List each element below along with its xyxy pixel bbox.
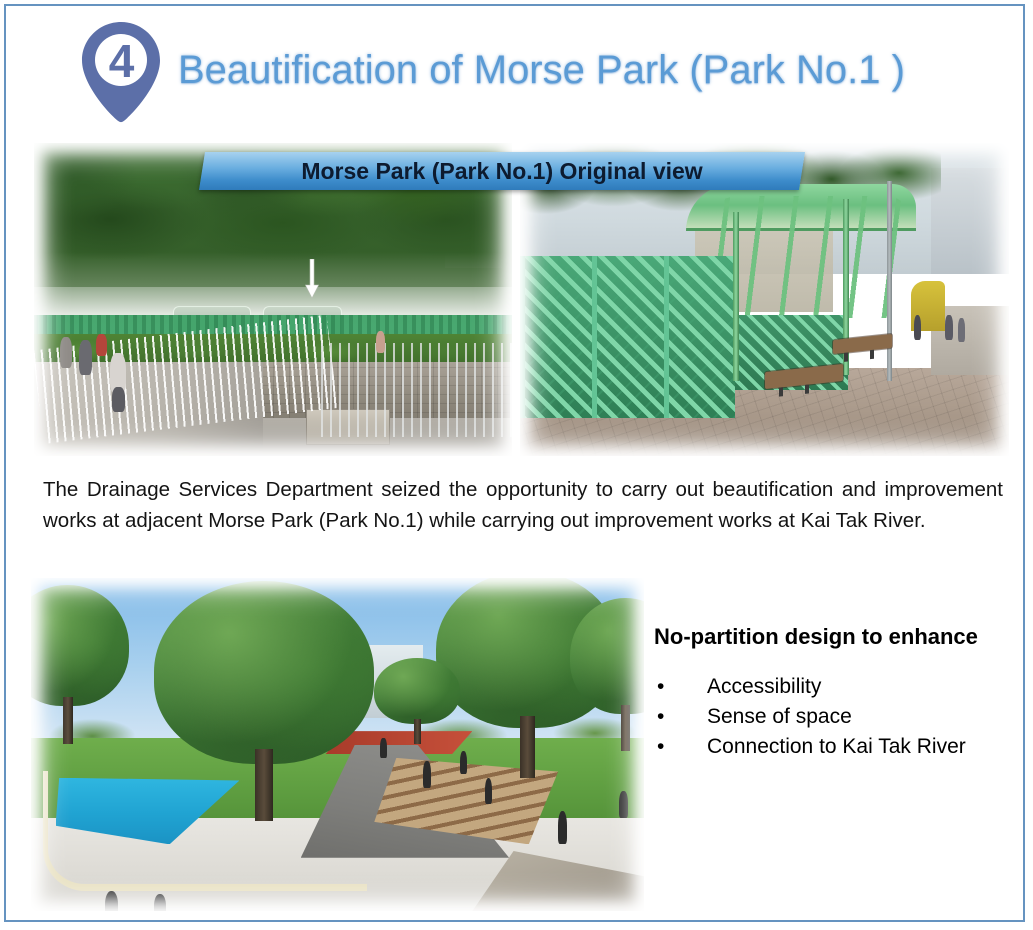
page-title: Beautification of Morse Park (Park No.1 … bbox=[178, 48, 905, 93]
pedestrian bbox=[376, 331, 386, 353]
person-silhouette bbox=[460, 751, 467, 774]
person-silhouette bbox=[380, 738, 386, 758]
photo-caption-banner: Morse Park (Park No.1) Original view bbox=[199, 152, 805, 190]
pedestrian bbox=[112, 387, 124, 412]
green-lattice-fence bbox=[520, 256, 735, 419]
list-item-label: Connection to Kai Tak River bbox=[707, 735, 966, 758]
bullet-icon: • bbox=[657, 732, 664, 762]
tree bbox=[154, 581, 375, 821]
list-item-label: Sense of space bbox=[707, 705, 852, 728]
person-silhouette bbox=[485, 778, 492, 805]
bullet-icon: • bbox=[657, 672, 664, 702]
slide-header: 4 Beautification of Morse Park (Park No.… bbox=[6, 6, 1023, 118]
photo-caption-label: Morse Park (Park No.1) Original view bbox=[202, 152, 802, 190]
person-silhouette bbox=[619, 791, 628, 818]
tree bbox=[570, 598, 644, 751]
down-arrow-annotation bbox=[304, 259, 320, 299]
person-silhouette bbox=[154, 894, 166, 911]
shelter-column bbox=[733, 212, 739, 381]
slide-container: 4 Beautification of Morse Park (Park No.… bbox=[4, 4, 1025, 922]
pedestrian bbox=[958, 318, 965, 341]
benefits-list: • Accessibility • Sense of space • Conne… bbox=[654, 672, 1033, 762]
list-item: • Sense of space bbox=[654, 702, 1033, 732]
badge-number: 4 bbox=[80, 34, 162, 88]
list-item-label: Accessibility bbox=[707, 675, 821, 698]
metal-railing bbox=[321, 343, 512, 437]
render-beautified-park bbox=[31, 578, 644, 911]
tree bbox=[374, 658, 460, 745]
pedestrian bbox=[60, 337, 71, 368]
bullet-icon: • bbox=[657, 702, 664, 732]
pedestrian bbox=[79, 340, 91, 374]
map-pin-icon: 4 bbox=[80, 20, 162, 124]
list-item: • Connection to Kai Tak River bbox=[654, 732, 1033, 762]
person-silhouette bbox=[423, 761, 430, 788]
body-paragraph: The Drainage Services Department seized … bbox=[43, 474, 1003, 536]
lamp-post bbox=[887, 181, 892, 381]
background-building bbox=[931, 168, 1009, 274]
person-silhouette bbox=[105, 891, 118, 911]
list-item: • Accessibility bbox=[654, 672, 1033, 702]
pedestrian bbox=[945, 315, 953, 340]
person-silhouette bbox=[558, 811, 567, 844]
tree bbox=[31, 585, 129, 745]
pedestrian bbox=[914, 315, 922, 340]
pedestrian bbox=[96, 334, 107, 356]
right-column-heading: No-partition design to enhance bbox=[654, 624, 1024, 650]
